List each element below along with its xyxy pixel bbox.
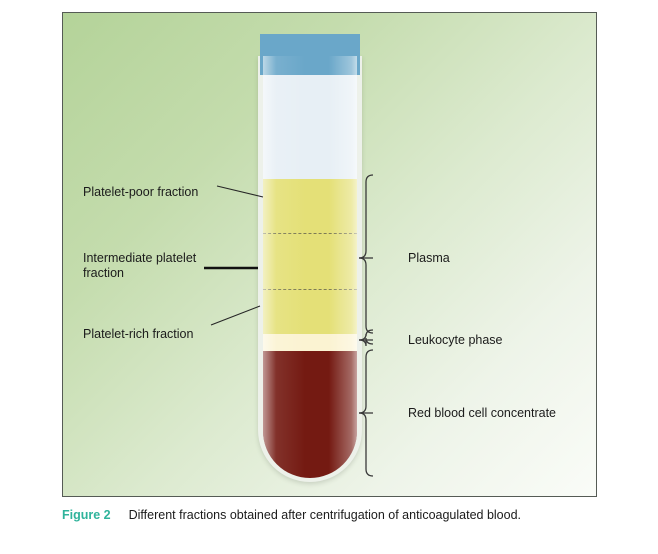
label-leukocyte-phase: Leukocyte phase [408, 333, 503, 348]
plasma-divider-line-upper [263, 233, 357, 234]
tube-band-leukocyte [263, 334, 357, 351]
figure-caption-number: Figure 2 [62, 508, 111, 522]
tube-band-red-blood-cells [263, 351, 357, 478]
leader-line-platelet-rich [211, 306, 260, 325]
label-platelet-rich-fraction: Platelet-rich fraction [83, 327, 193, 342]
label-plasma: Plasma [408, 251, 450, 266]
tube-contents [263, 56, 357, 478]
label-intermediate-platelet-fraction: Intermediate platelet fraction [83, 251, 196, 281]
figure-caption-text: Different fractions obtained after centr… [129, 508, 521, 522]
blood-collection-tube [258, 34, 362, 482]
figure-panel: Platelet-poor fraction Intermediate plat… [62, 12, 597, 497]
label-red-blood-cell-concentrate: Red blood cell concentrate [408, 406, 556, 421]
leader-line-platelet-poor [217, 186, 263, 197]
tube-cap [260, 34, 360, 75]
label-platelet-poor-fraction: Platelet-poor fraction [83, 185, 198, 200]
figure-caption: Figure 2Different fractions obtained aft… [62, 508, 622, 522]
plasma-divider-line-lower [263, 289, 357, 290]
tube-band-plasma [263, 179, 357, 334]
